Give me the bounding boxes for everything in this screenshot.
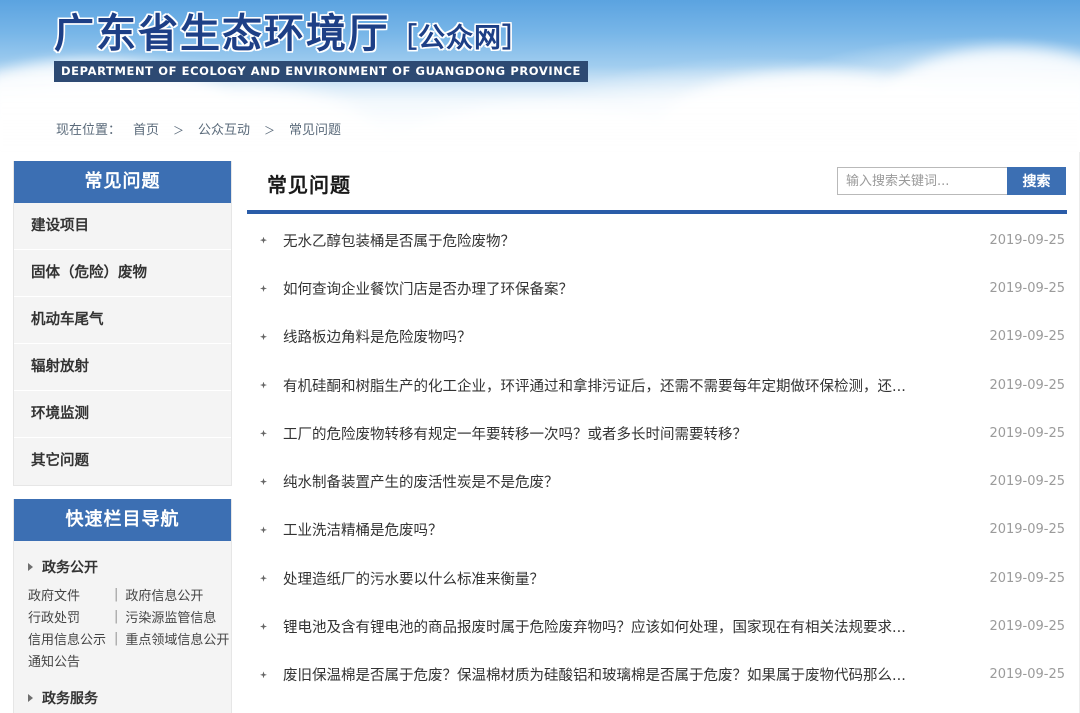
search-box: 搜索 — [837, 167, 1066, 195]
diamond-bullet-icon — [260, 526, 267, 533]
sidebar-quick-nav-panel: 快速栏目导航 政务公开 政府文件 | 政府信息公开 行政处罚 | 污染源监管 — [13, 499, 232, 713]
diamond-bullet-icon — [260, 575, 267, 582]
faq-list-item[interactable]: 如何查询企业餐饮门店是否办理了环保备案？ 2019-09-25 — [247, 264, 1067, 312]
site-banner: 广东省生态环境厅［公众网］ DEPARTMENT OF ECOLOGY AND … — [0, 0, 1080, 152]
quick-row-divider: | — [114, 587, 118, 602]
search-button[interactable]: 搜索 — [1007, 167, 1066, 195]
faq-list: 无水乙醇包装桶是否属于危险废物？ 2019-09-25 如何查询企业餐饮门店是否… — [247, 214, 1067, 699]
content-area: 常见问题 建设项目 固体（危险）废物 机动车尾气 辐射放射 环境监测 其它问题 … — [0, 152, 1080, 713]
quick-link-notice-announcement[interactable]: 通知公告 — [28, 651, 114, 670]
faq-list-item[interactable]: 有机硅酮和树脂生产的化工企业，环评通过和拿排污证后，还需不需要每年定期做环保检测… — [247, 361, 1067, 409]
main-column: 常见问题 搜索 无水乙醇包装桶是否属于危险废物？ 2019-09-25 如何查询… — [247, 161, 1067, 699]
faq-item-title[interactable]: 锂电池及含有锂电池的商品报废时属于危险废弃物吗？应该如何处理，国家现在有相关法规… — [283, 616, 989, 637]
faq-list-item[interactable]: 无水乙醇包装桶是否属于危险废物？ 2019-09-25 — [247, 216, 1067, 264]
sidebar-faq-panel: 常见问题 建设项目 固体（危险）废物 机动车尾气 辐射放射 环境监测 其它问题 — [13, 161, 232, 486]
sidebar-item-solid-hazardous-waste[interactable]: 固体（危险）废物 — [14, 250, 231, 297]
faq-list-item[interactable]: 废旧保温棉是否属于危废？保温棉材质为硅酸铝和玻璃棉是否属于危废？如果属于废物代码… — [247, 651, 1067, 699]
quick-link-government-info-disclosure[interactable]: 政府信息公开 — [125, 585, 203, 604]
diamond-bullet-icon — [260, 333, 267, 340]
faq-item-title[interactable]: 纯水制备装置产生的废活性炭是不是危废？ — [283, 471, 989, 492]
faq-list-item[interactable]: 线路板边角料是危险废物吗？ 2019-09-25 — [247, 313, 1067, 361]
faq-item-date: 2019-09-25 — [989, 667, 1065, 682]
faq-item-date: 2019-09-25 — [989, 281, 1065, 296]
logo-chinese-title: 广东省生态环境厅［公众网］ — [54, 12, 588, 57]
quick-nav-row: 行政处罚 | 污染源监管信息 — [14, 605, 231, 627]
quick-link-pollution-source-supervision[interactable]: 污染源监管信息 — [125, 607, 216, 626]
faq-item-title[interactable]: 工业洗洁精桶是危废吗？ — [283, 519, 989, 540]
sidebar-item-vehicle-exhaust[interactable]: 机动车尾气 — [14, 297, 231, 344]
faq-item-title[interactable]: 线路板边角料是危险废物吗？ — [283, 326, 989, 347]
faq-list-item[interactable]: 处理造纸厂的污水要以什么标准来衡量？ 2019-09-25 — [247, 554, 1067, 602]
diamond-bullet-icon — [260, 430, 267, 437]
breadcrumb-item-faq[interactable]: 常见问题 — [289, 123, 341, 138]
quick-nav-group-label: 政务服务 — [42, 688, 98, 708]
quick-nav-row: 信用信息公示 | 重点领域信息公开 — [14, 627, 231, 649]
diamond-bullet-icon — [260, 623, 267, 630]
quick-row-divider: | — [114, 609, 118, 624]
page-root: 广东省生态环境厅［公众网］ DEPARTMENT OF ECOLOGY AND … — [0, 0, 1080, 713]
triangle-right-icon — [28, 694, 33, 702]
faq-list-item[interactable]: 工业洗洁精桶是危废吗？ 2019-09-25 — [247, 506, 1067, 554]
faq-list-item[interactable]: 工厂的危险废物转移有规定一年要转移一次吗？或者多长时间需要转移？ 2019-09… — [247, 409, 1067, 457]
logo-english-title: DEPARTMENT OF ECOLOGY AND ENVIRONMENT OF… — [61, 64, 581, 78]
diamond-bullet-icon — [260, 237, 267, 244]
quick-link-administrative-penalty[interactable]: 行政处罚 — [28, 607, 114, 626]
sidebar: 常见问题 建设项目 固体（危险）废物 机动车尾气 辐射放射 环境监测 其它问题 … — [13, 161, 232, 713]
sidebar-quick-nav-title: 快速栏目导航 — [14, 499, 231, 541]
breadcrumb-item-public-interaction[interactable]: 公众互动 — [198, 123, 250, 138]
sidebar-item-other-questions[interactable]: 其它问题 — [14, 438, 231, 485]
faq-item-title[interactable]: 废旧保温棉是否属于危废？保温棉材质为硅酸铝和玻璃棉是否属于危废？如果属于废物代码… — [283, 664, 989, 685]
faq-item-date: 2019-09-25 — [989, 233, 1065, 248]
quick-nav-group-government-services[interactable]: 政务服务 — [14, 682, 231, 713]
faq-item-title[interactable]: 工厂的危险废物转移有规定一年要转移一次吗？或者多长时间需要转移？ — [283, 423, 989, 444]
sidebar-item-radiation[interactable]: 辐射放射 — [14, 344, 231, 391]
site-logo[interactable]: 广东省生态环境厅［公众网］ DEPARTMENT OF ECOLOGY AND … — [54, 12, 588, 82]
main-header: 常见问题 搜索 — [247, 161, 1067, 210]
quick-nav-body: 政务公开 政府文件 | 政府信息公开 行政处罚 | 污染源监管信息 信用信息公示 — [14, 541, 231, 713]
breadcrumb: 现在位置：首页＞公众互动＞常见问题 — [56, 119, 341, 138]
faq-list-item[interactable]: 锂电池及含有锂电池的商品报废时属于危险废弃物吗？应该如何处理，国家现在有相关法规… — [247, 602, 1067, 650]
faq-item-title[interactable]: 有机硅酮和树脂生产的化工企业，环评通过和拿排污证后，还需不需要每年定期做环保检测… — [283, 375, 989, 396]
quick-link-credit-info-publicity[interactable]: 信用信息公示 — [28, 629, 114, 648]
triangle-right-icon — [28, 563, 33, 571]
sidebar-faq-panel-title: 常见问题 — [14, 161, 231, 203]
faq-item-date: 2019-09-25 — [989, 522, 1065, 537]
quick-nav-group-government-affairs-disclosure[interactable]: 政务公开 — [14, 551, 231, 583]
quick-row-divider: | — [114, 631, 118, 646]
faq-item-date: 2019-09-25 — [989, 571, 1065, 586]
breadcrumb-separator-icon: ＞ — [173, 124, 184, 137]
faq-item-title[interactable]: 如何查询企业餐饮门店是否办理了环保备案？ — [283, 278, 989, 299]
search-input[interactable] — [837, 167, 1007, 195]
sidebar-item-construction-project[interactable]: 建设项目 — [14, 203, 231, 250]
faq-item-date: 2019-09-25 — [989, 619, 1065, 634]
quick-nav-row: 政府文件 | 政府信息公开 — [14, 583, 231, 605]
quick-link-key-field-info-disclosure[interactable]: 重点领域信息公开 — [125, 629, 229, 648]
page-title: 常见问题 — [267, 169, 351, 198]
faq-item-date: 2019-09-25 — [989, 474, 1065, 489]
faq-item-title[interactable]: 处理造纸厂的污水要以什么标准来衡量？ — [283, 568, 989, 589]
diamond-bullet-icon — [260, 671, 267, 678]
diamond-bullet-icon — [260, 285, 267, 292]
breadcrumb-item-home[interactable]: 首页 — [133, 123, 159, 138]
logo-english-bar: DEPARTMENT OF ECOLOGY AND ENVIRONMENT OF… — [54, 61, 588, 82]
faq-item-date: 2019-09-25 — [989, 426, 1065, 441]
sidebar-item-environmental-monitoring[interactable]: 环境监测 — [14, 391, 231, 438]
quick-nav-group-label: 政务公开 — [42, 557, 98, 577]
logo-title-text: 广东省生态环境厅 — [54, 11, 390, 57]
breadcrumb-separator-icon: ＞ — [264, 124, 275, 137]
faq-item-title[interactable]: 无水乙醇包装桶是否属于危险废物？ — [283, 230, 989, 251]
diamond-bullet-icon — [260, 478, 267, 485]
breadcrumb-label: 现在位置： — [56, 123, 121, 138]
diamond-bullet-icon — [260, 382, 267, 389]
faq-item-date: 2019-09-25 — [989, 329, 1065, 344]
faq-item-date: 2019-09-25 — [989, 378, 1065, 393]
quick-nav-row: 通知公告 — [14, 649, 231, 671]
faq-list-item[interactable]: 纯水制备装置产生的废活性炭是不是危废？ 2019-09-25 — [247, 457, 1067, 505]
quick-link-government-documents[interactable]: 政府文件 — [28, 585, 114, 604]
logo-public-tag: ［公众网］ — [390, 23, 530, 54]
